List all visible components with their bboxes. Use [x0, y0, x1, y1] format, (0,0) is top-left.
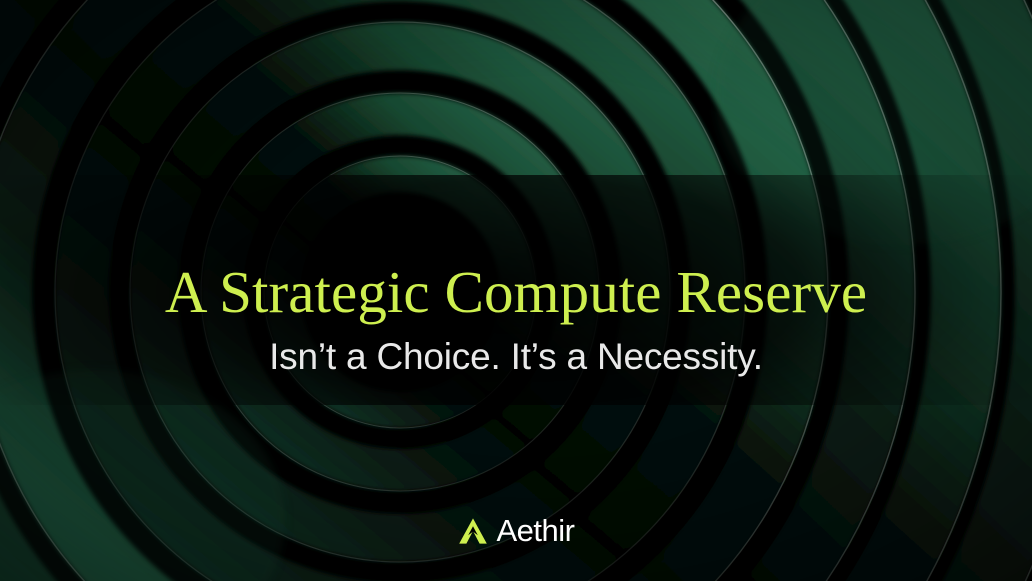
content-layer: A Strategic Compute Reserve Isn’t a Choi…	[0, 0, 1032, 581]
aethir-wordmark: Aethir	[497, 515, 575, 546]
page-subtitle: Isn’t a Choice. It’s a Necessity.	[0, 336, 1032, 379]
aethir-a-mark-icon	[458, 516, 488, 546]
promo-canvas: A Strategic Compute Reserve Isn’t a Choi…	[0, 0, 1032, 581]
aethir-logo-lockup: Aethir	[0, 515, 1032, 546]
page-title: A Strategic Compute Reserve	[0, 262, 1032, 323]
